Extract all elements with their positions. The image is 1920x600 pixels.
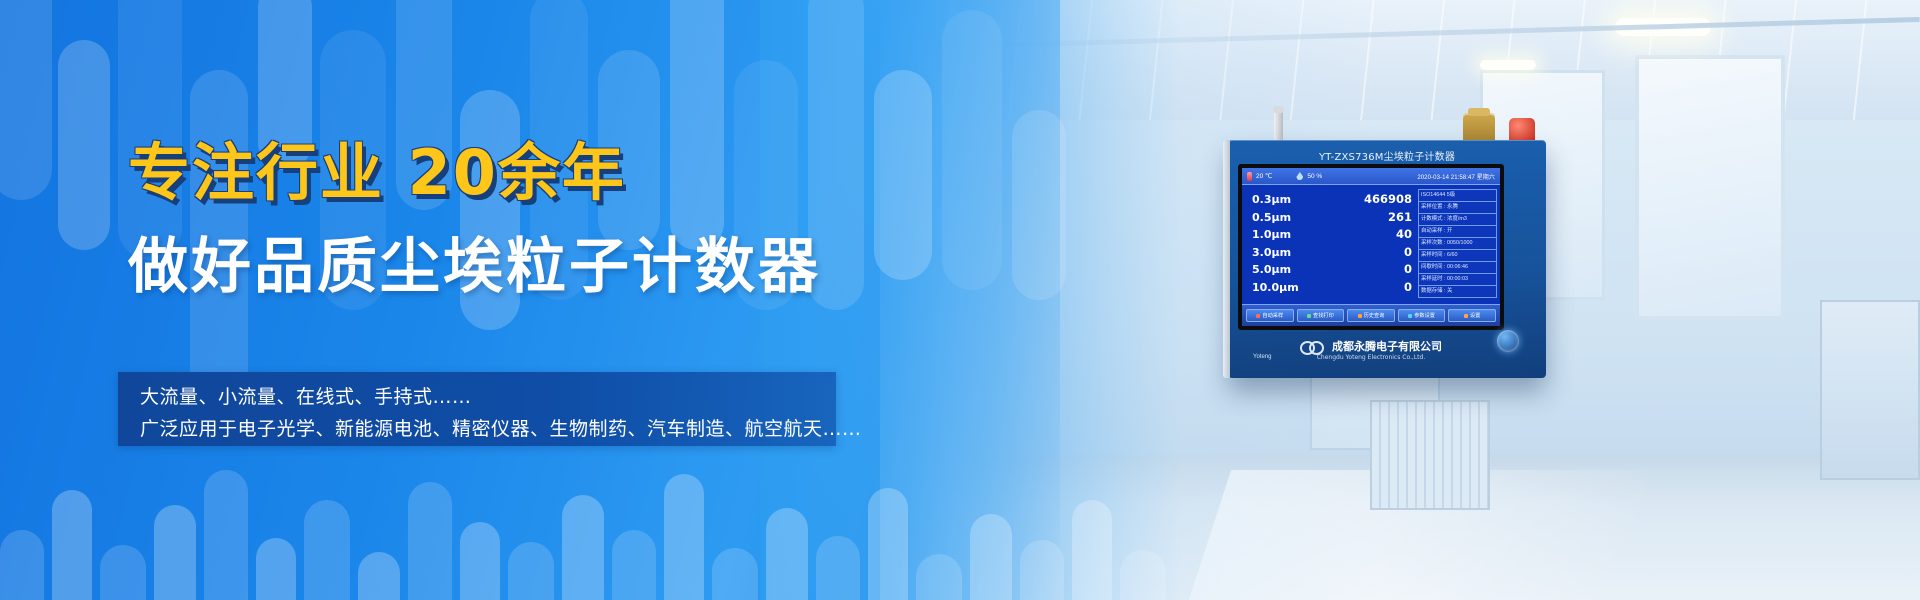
subtitle-line-2: 广泛应用于电子光学、新能源电池、精密仪器、生物制药、汽车制造、航空航天…… [140, 414, 862, 441]
power-indicator-icon [1497, 330, 1519, 352]
brass-nozzle-icon [1463, 113, 1495, 143]
device-screen-bezel: 20 ℃ 50 % 2020-03-14 21:58:47 星期六 0.3μm … [1238, 164, 1504, 330]
screen-body: 0.3μm 466908 0.5μm 261 1.0μm 40 3.0μm 0 [1242, 185, 1500, 301]
particle-size: 0.5μm [1252, 209, 1291, 227]
brand-name-en: Chengdu Yoteng Electronics Co.,Ltd. [1238, 354, 1504, 361]
list-item: 采样时间 : 6/60 [1418, 249, 1497, 261]
screen-button-settings[interactable]: 设置 [1448, 309, 1496, 322]
screen-button-label: 参数设置 [1414, 312, 1435, 319]
headline-secondary: 做好品质尘埃粒子计数器 [128, 218, 821, 305]
screen-button-history[interactable]: 历史查询 [1347, 309, 1395, 322]
table-row: 1.0μm 40 [1252, 226, 1412, 244]
headline-primary: 专注行业 20余年 [128, 122, 626, 212]
status-dot-icon [1464, 314, 1468, 318]
list-item: 间歇时间 : 00:06:46 [1418, 261, 1497, 273]
decorative-bottom-bars [0, 450, 1240, 600]
screen-button-label: 自动采样 [1262, 312, 1283, 319]
particle-size: 10.0μm [1252, 279, 1299, 297]
particle-count: 0 [1404, 244, 1412, 262]
screen-button-label: 查找打印 [1313, 312, 1334, 319]
status-dot-icon [1256, 314, 1260, 318]
sensor-probe-cap-icon [1273, 106, 1284, 113]
status-dot-icon [1307, 314, 1311, 318]
device-left-edge [1223, 140, 1230, 378]
screen-info-panel: ISO14644 5级 采样位置 : 永腾 计数模式 : 浓度/m3 自动采样 … [1418, 185, 1500, 301]
brand-name-cn: 成都永腾电子有限公司 [1332, 338, 1442, 354]
screen-button-parameters[interactable]: 参数设置 [1398, 309, 1446, 322]
screen-button-label: 设置 [1470, 312, 1480, 319]
status-dot-icon [1358, 314, 1362, 318]
particle-count: 0 [1404, 261, 1412, 279]
screen-button-bar: 自动采样 查找打印 历史查询 参数设置 设置 [1242, 304, 1500, 326]
screen-button-search-print[interactable]: 查找打印 [1297, 309, 1345, 322]
screen-button-label: 历史查询 [1364, 312, 1385, 319]
table-row: 3.0μm 0 [1252, 244, 1412, 262]
particle-size: 5.0μm [1252, 261, 1291, 279]
particle-count: 40 [1396, 226, 1412, 244]
particle-size: 3.0μm [1252, 244, 1291, 262]
list-item: ISO14644 5级 [1418, 189, 1497, 201]
particle-size: 1.0μm [1252, 226, 1291, 244]
list-item: 采样位置 : 永腾 [1418, 201, 1497, 213]
subtitle-line-1: 大流量、小流量、在线式、手持式…… [140, 382, 472, 409]
table-row: 5.0μm 0 [1252, 261, 1412, 279]
list-item: 数据存储 : 关 [1418, 285, 1497, 298]
table-row: 0.5μm 261 [1252, 209, 1412, 227]
list-item: 自动采样 : 开 [1418, 225, 1497, 237]
table-row: 10.0μm 0 [1252, 279, 1412, 297]
particle-size: 0.3μm [1252, 191, 1291, 209]
screen-button-auto-sample[interactable]: 自动采样 [1246, 309, 1294, 322]
droplet-icon [1296, 172, 1303, 180]
screen-status-bar: 20 ℃ 50 % 2020-03-14 21:58:47 星期六 [1242, 168, 1500, 185]
particle-count: 261 [1388, 209, 1412, 227]
humidity-value: 50 % [1307, 173, 1322, 180]
subtitle-box: 大流量、小流量、在线式、手持式…… 广泛应用于电子光学、新能源电池、精密仪器、生… [118, 372, 836, 446]
particle-count: 466908 [1364, 191, 1412, 209]
list-item: 计数模式 : 浓度/m3 [1418, 213, 1497, 225]
particle-count: 0 [1404, 279, 1412, 297]
table-row: 0.3μm 466908 [1252, 191, 1412, 209]
list-item: 采样次数 : 0050/1000 [1418, 237, 1497, 249]
brass-nozzle-top-icon [1468, 108, 1490, 116]
thermometer-icon [1247, 172, 1252, 181]
yoteng-logo-icon [1300, 339, 1326, 353]
hero-banner: 专注行业 20余年 做好品质尘埃粒子计数器 大流量、小流量、在线式、手持式…… … [0, 0, 1920, 600]
device-brand-row: 成都永腾电子有限公司 [1238, 338, 1504, 354]
datetime-value: 2020-03-14 21:58:47 星期六 [1417, 172, 1495, 181]
list-item: 采样延时 : 00:00:03 [1418, 273, 1497, 285]
particle-count-table: 0.3μm 466908 0.5μm 261 1.0μm 40 3.0μm 0 [1242, 185, 1418, 301]
device-model-label: YT-ZXS736M尘埃粒子计数器 [1228, 148, 1546, 163]
temperature-value: 20 ℃ [1256, 172, 1272, 180]
device-screen[interactable]: 20 ℃ 50 % 2020-03-14 21:58:47 星期六 0.3μm … [1242, 168, 1500, 326]
status-dot-icon [1408, 314, 1412, 318]
